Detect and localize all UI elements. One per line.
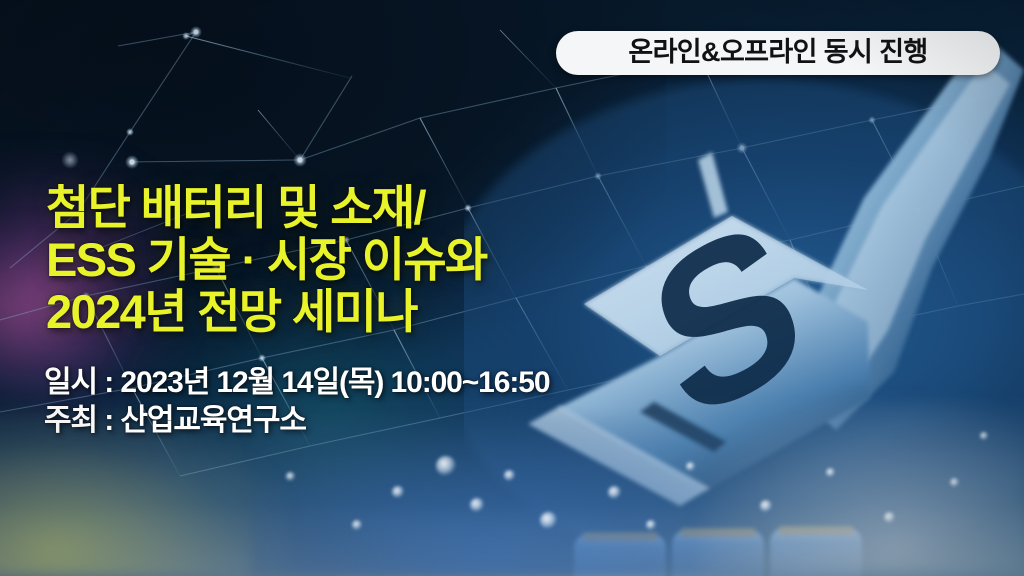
- page-title: 첨단 배터리 및 소재/ ESS 기술 · 시장 이슈와 2024년 전망 세미…: [46, 182, 686, 338]
- seminar-banner: S: [0, 0, 1024, 576]
- event-datetime: 일시 : 2023년 12월 14일(목) 10:00~16:50: [44, 364, 744, 402]
- status-badge-label: 온라인&오프라인 동시 진행: [628, 39, 927, 66]
- headline-line-1: 첨단 배터리 및 소재/: [46, 182, 686, 234]
- event-host: 주최 : 산업교육연구소: [44, 402, 744, 440]
- status-badge: 온라인&오프라인 동시 진행: [556, 31, 1000, 75]
- event-details: 일시 : 2023년 12월 14일(목) 10:00~16:50 주최 : 산…: [44, 364, 744, 440]
- headline-line-3: 2024년 전망 세미나: [46, 286, 686, 338]
- headline-line-2: ESS 기술 · 시장 이슈와: [46, 234, 686, 286]
